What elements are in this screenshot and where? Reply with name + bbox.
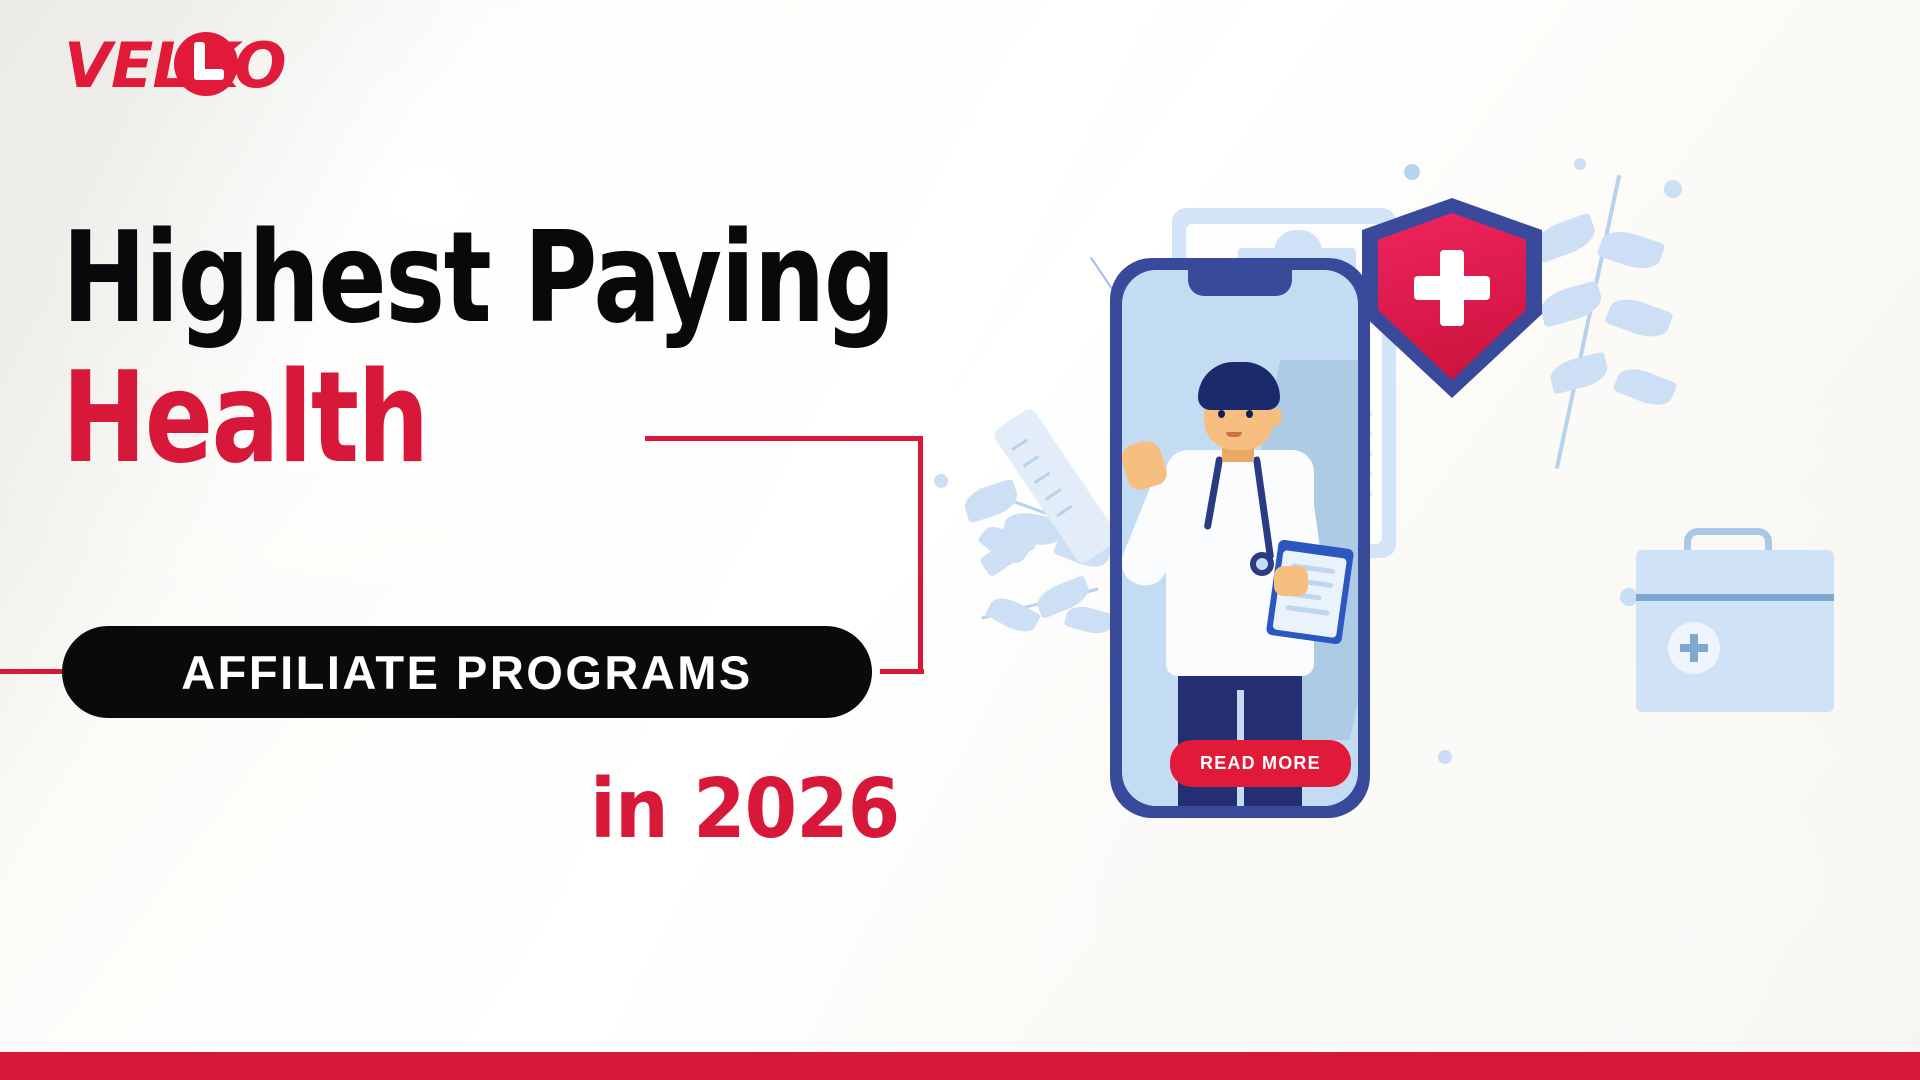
health-illustration: READ MORE xyxy=(1150,150,1920,890)
bracket-top-rule xyxy=(645,436,923,441)
headline-line-2: Health xyxy=(62,355,830,481)
brand-logo[interactable]: VELKO xyxy=(64,32,286,100)
smartphone-icon: READ MORE xyxy=(1110,258,1370,818)
affiliate-programs-label: AFFILIATE PROGRAMS xyxy=(181,645,753,700)
read-more-button[interactable]: READ MORE xyxy=(1170,740,1351,787)
footer-accent-bar xyxy=(0,1052,1920,1080)
clock-badge-icon xyxy=(174,32,238,96)
bracket-right-rule xyxy=(918,436,923,674)
affiliate-programs-pill: AFFILIATE PROGRAMS xyxy=(62,626,872,718)
doctor-character-icon xyxy=(1122,270,1358,806)
decorative-dot xyxy=(1404,164,1420,180)
headline-block: Highest Paying Health xyxy=(62,215,1022,481)
first-aid-kit-icon xyxy=(1636,550,1834,712)
headline-line-1: Highest Paying xyxy=(62,215,830,341)
year-label: in 2026 xyxy=(590,762,899,857)
medical-shield-cross-icon xyxy=(1362,198,1542,398)
decorative-dot xyxy=(1438,750,1452,764)
bracket-bottom-rule xyxy=(880,669,924,674)
